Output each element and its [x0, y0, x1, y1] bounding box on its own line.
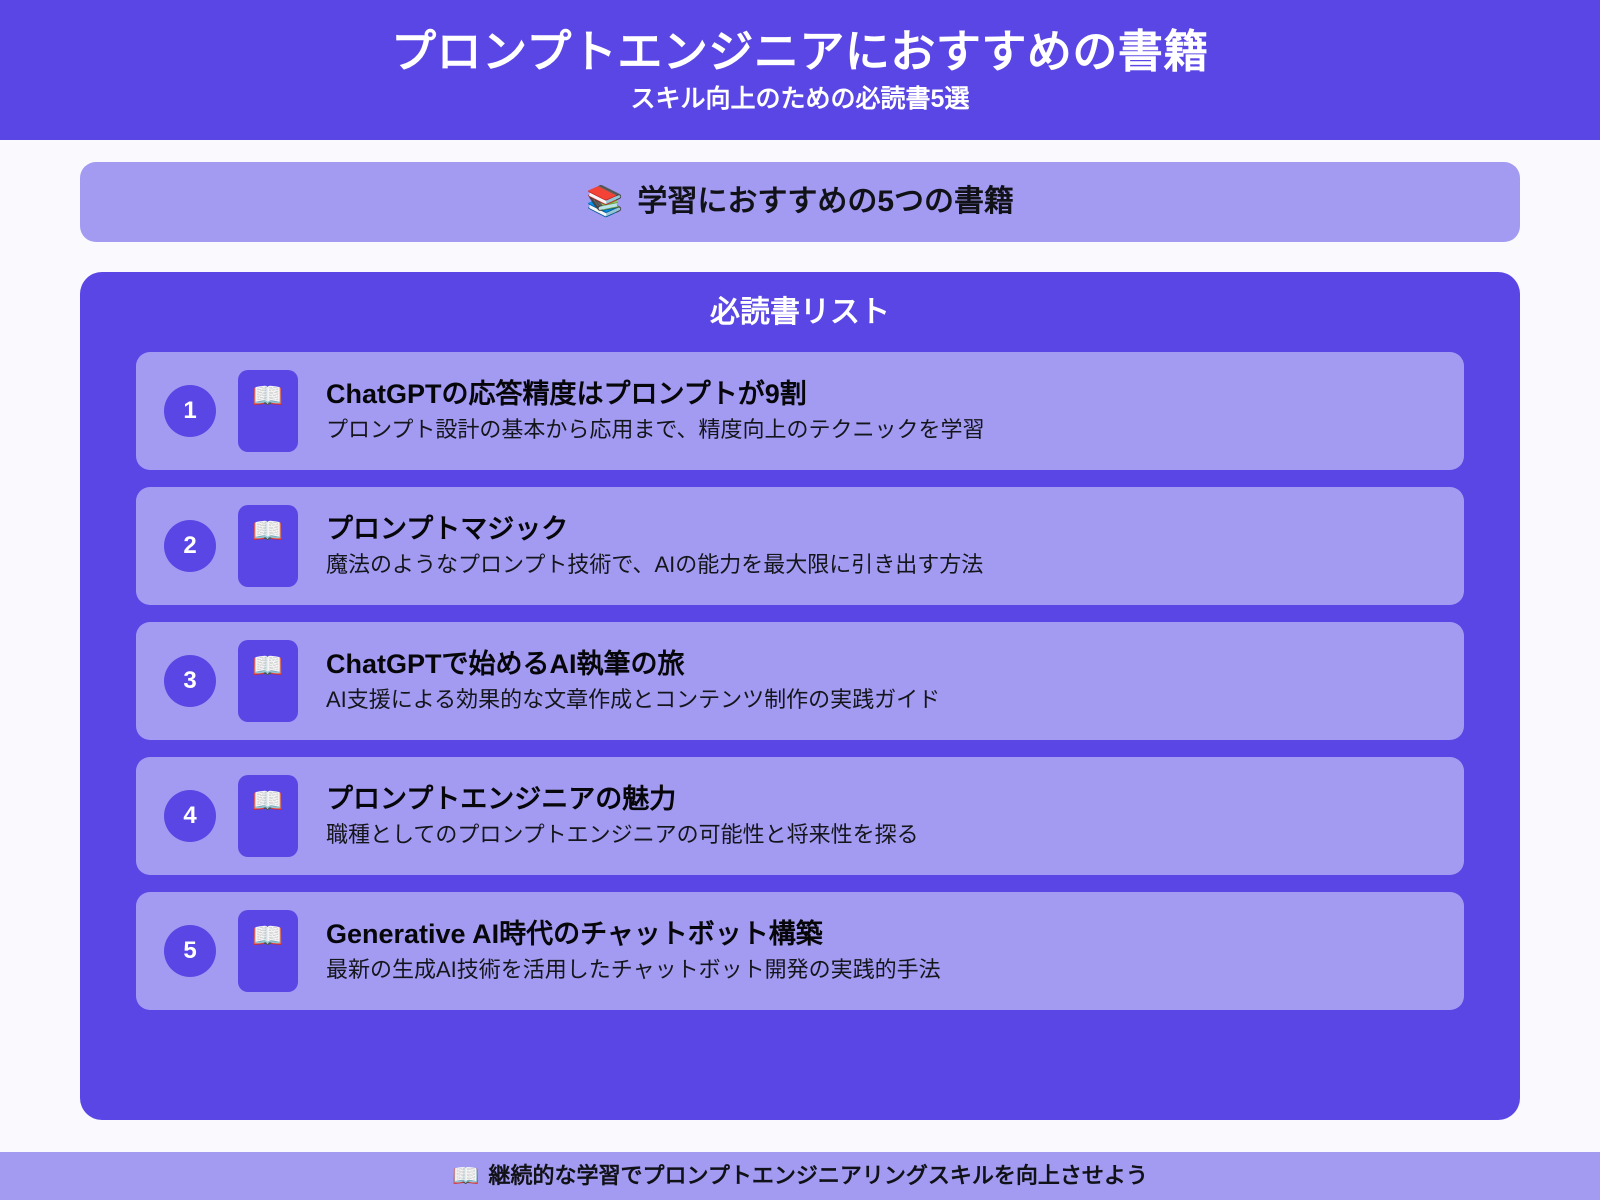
book-rank-badge: 1 [164, 385, 216, 437]
list-item[interactable]: 1 📖 ChatGPTの応答精度はプロンプトが9割 プロンプト設計の基本から応用… [136, 352, 1464, 470]
book-list: 1 📖 ChatGPTの応答精度はプロンプトが9割 プロンプト設計の基本から応用… [136, 352, 1464, 1010]
book-cover-tile: 📖 [238, 640, 298, 722]
book-text-group: ChatGPTで始めるAI執筆の旅 AI支援による効果的な文章作成とコンテンツ制… [320, 650, 1440, 712]
book-cover-tile: 📖 [238, 910, 298, 992]
book-title: プロンプトマジック [326, 515, 1440, 543]
book-text-group: プロンプトエンジニアの魅力 職種としてのプロンプトエンジニアの可能性と将来性を探… [320, 785, 1440, 847]
section-banner-label: 学習におすすめの5つの書籍 [637, 187, 1014, 217]
book-rank-badge: 2 [164, 520, 216, 572]
footer-label: 継続的な学習でプロンプトエンジニアリングスキルを向上させよう [489, 1165, 1148, 1187]
open-book-icon: 📖 [252, 519, 283, 544]
book-list-card-title: 必読書リスト [136, 298, 1464, 328]
book-title: ChatGPTの応答精度はプロンプトが9割 [326, 380, 1440, 408]
open-book-icon: 📖 [452, 1165, 479, 1187]
open-book-icon: 📖 [252, 789, 283, 814]
book-description: プロンプト設計の基本から応用まで、精度向上のテクニックを学習 [326, 418, 1440, 442]
section-banner: 📚 学習におすすめの5つの書籍 [80, 162, 1520, 242]
book-rank-badge: 5 [164, 925, 216, 977]
book-rank-badge: 3 [164, 655, 216, 707]
book-title: ChatGPTで始めるAI執筆の旅 [326, 650, 1440, 678]
page-title: プロンプトエンジニアにおすすめの書籍 [391, 28, 1209, 75]
book-list-card: 必読書リスト 1 📖 ChatGPTの応答精度はプロンプトが9割 プロンプト設計… [80, 272, 1520, 1120]
book-cover-tile: 📖 [238, 505, 298, 587]
book-description: 最新の生成AI技術を活用したチャットボット開発の実践的手法 [326, 958, 1440, 982]
list-item[interactable]: 4 📖 プロンプトエンジニアの魅力 職種としてのプロンプトエンジニアの可能性と将… [136, 757, 1464, 875]
list-item[interactable]: 3 📖 ChatGPTで始めるAI執筆の旅 AI支援による効果的な文章作成とコン… [136, 622, 1464, 740]
book-title: Generative AI時代のチャットボット構築 [326, 920, 1440, 948]
page-header: プロンプトエンジニアにおすすめの書籍 スキル向上のための必読書5選 [0, 0, 1600, 140]
book-rank-badge: 4 [164, 790, 216, 842]
book-title: プロンプトエンジニアの魅力 [326, 785, 1440, 813]
book-description: 魔法のようなプロンプト技術で、AIの能力を最大限に引き出す方法 [326, 553, 1440, 577]
list-item[interactable]: 2 📖 プロンプトマジック 魔法のようなプロンプト技術で、AIの能力を最大限に引… [136, 487, 1464, 605]
book-cover-tile: 📖 [238, 775, 298, 857]
book-description: 職種としてのプロンプトエンジニアの可能性と将来性を探る [326, 823, 1440, 847]
book-text-group: Generative AI時代のチャットボット構築 最新の生成AI技術を活用した… [320, 920, 1440, 982]
books-icon: 📚 [586, 187, 623, 217]
book-text-group: プロンプトマジック 魔法のようなプロンプト技術で、AIの能力を最大限に引き出す方… [320, 515, 1440, 577]
book-description: AI支援による効果的な文章作成とコンテンツ制作の実践ガイド [326, 688, 1440, 712]
open-book-icon: 📖 [252, 384, 283, 409]
book-text-group: ChatGPTの応答精度はプロンプトが9割 プロンプト設計の基本から応用まで、精… [320, 380, 1440, 442]
book-cover-tile: 📖 [238, 370, 298, 452]
content-area: 📚 学習におすすめの5つの書籍 必読書リスト 1 📖 ChatGPTの応答精度は… [0, 140, 1600, 1120]
page-footer: 📖 継続的な学習でプロンプトエンジニアリングスキルを向上させよう [0, 1152, 1600, 1200]
list-item[interactable]: 5 📖 Generative AI時代のチャットボット構築 最新の生成AI技術を… [136, 892, 1464, 1010]
open-book-icon: 📖 [252, 924, 283, 949]
open-book-icon: 📖 [252, 654, 283, 679]
page-subtitle: スキル向上のための必読書5選 [631, 86, 970, 112]
